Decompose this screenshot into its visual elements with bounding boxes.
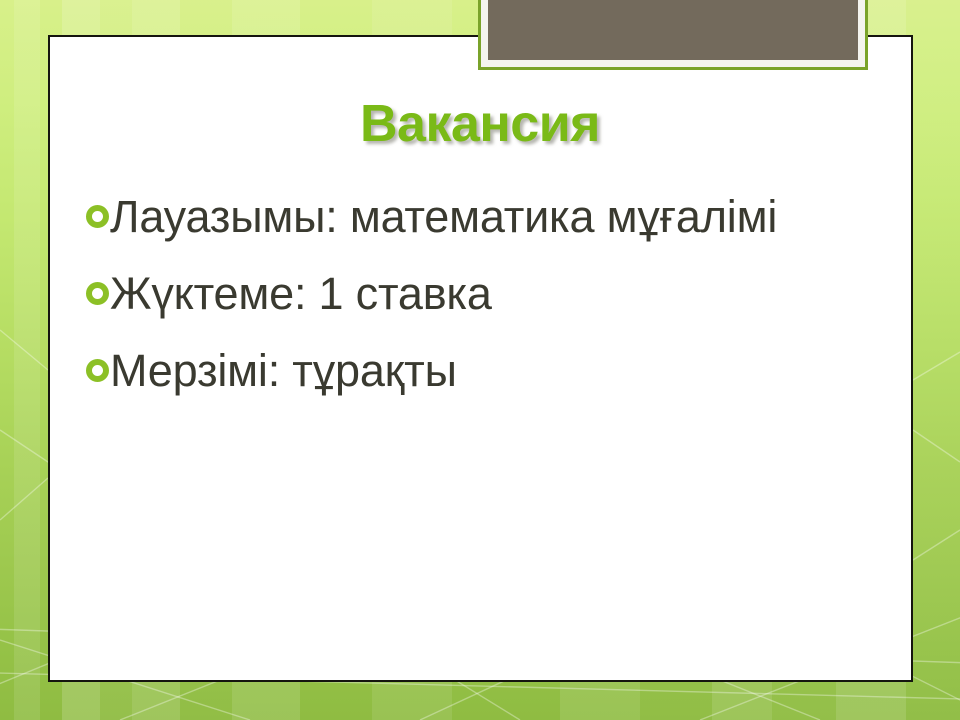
- list-item-label: Мерзімі: тұрақты: [110, 344, 457, 399]
- ring-bullet-icon: [86, 205, 109, 228]
- bullet-list: Лауазымы: математика мұғалімі Жүктеме: 1…: [86, 190, 920, 421]
- ring-bullet-icon: [86, 282, 109, 305]
- ring-bullet-icon: [86, 359, 109, 382]
- page-title: Вакансия: [0, 96, 960, 153]
- list-item-label: Жүктеме: 1 ставка: [110, 267, 492, 322]
- decorative-rectangle: [478, 0, 868, 70]
- decorative-rectangle-fill: [488, 0, 858, 60]
- list-item: Жүктеме: 1 ставка: [86, 267, 920, 322]
- list-item-label: Лауазымы: математика мұғалімі: [110, 190, 777, 245]
- list-item: Лауазымы: математика мұғалімі: [86, 190, 920, 245]
- slide-canvas: Вакансия Лауазымы: математика мұғалімі Ж…: [0, 0, 960, 720]
- list-item: Мерзімі: тұрақты: [86, 344, 920, 399]
